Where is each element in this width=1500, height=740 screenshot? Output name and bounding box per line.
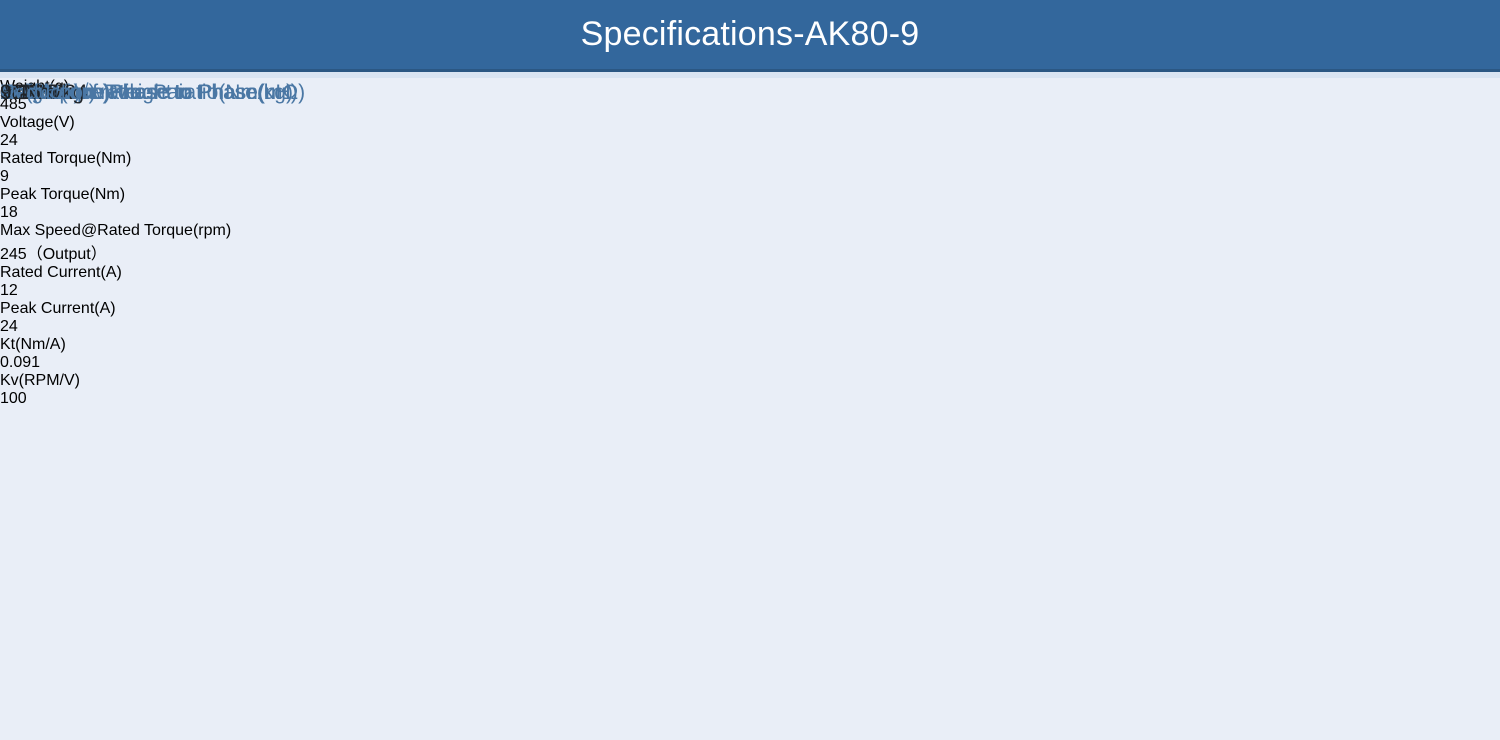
specifications-page: Specifications-AK80-9 Weight(g)485Voltag… bbox=[0, 0, 1500, 740]
page-title: Specifications-AK80-9 bbox=[0, 0, 1500, 69]
spec-value: 24 bbox=[0, 318, 760, 336]
spec-label: Rated Current(A) bbox=[0, 264, 760, 282]
spec-value: 245（Output） bbox=[0, 240, 760, 264]
spec-value: 100 bbox=[0, 390, 760, 408]
spec-value: 9:1 bbox=[0, 78, 29, 108]
spec-row: Max Speed@Rated Torque(rpm)245（Output） bbox=[0, 222, 760, 264]
spec-row: Rated Current(A)12 bbox=[0, 264, 760, 300]
spec-label: Kt(Nm/A) bbox=[0, 336, 760, 354]
spec-value: 24 bbox=[0, 132, 760, 150]
spec-value: 9 bbox=[0, 168, 760, 186]
spec-row: Peak Current(A)24 bbox=[0, 300, 760, 336]
spec-row: Peak Torque(Nm)18 bbox=[0, 186, 760, 222]
spec-label: Peak Current(A) bbox=[0, 300, 760, 318]
spec-label: Kv(RPM/V) bbox=[0, 372, 760, 390]
spec-row: Kt(Nm/A)0.091 bbox=[0, 336, 760, 372]
spec-value: 12 bbox=[0, 282, 760, 300]
spec-table: Weight(g)485Voltage(V)24Rated Torque(Nm)… bbox=[0, 78, 1500, 740]
spec-label: Peak Torque(Nm) bbox=[0, 186, 760, 204]
spec-row: Rated Torque(Nm)9 bbox=[0, 150, 760, 186]
spec-column-left: Weight(g)485Voltage(V)24Rated Torque(Nm)… bbox=[0, 78, 760, 408]
spec-label: Voltage(V) bbox=[0, 114, 760, 132]
spec-value: 0.091 bbox=[0, 354, 760, 372]
spec-row: Voltage(V)24 bbox=[0, 114, 760, 150]
spec-label: Max Speed@Rated Torque(rpm) bbox=[0, 222, 760, 240]
spec-label: Rated Torque(Nm) bbox=[0, 150, 760, 168]
header-band: Specifications-AK80-9 bbox=[0, 0, 1500, 69]
spec-row: Kv(RPM/V)100 bbox=[0, 372, 760, 408]
spec-value: 18 bbox=[0, 204, 760, 222]
